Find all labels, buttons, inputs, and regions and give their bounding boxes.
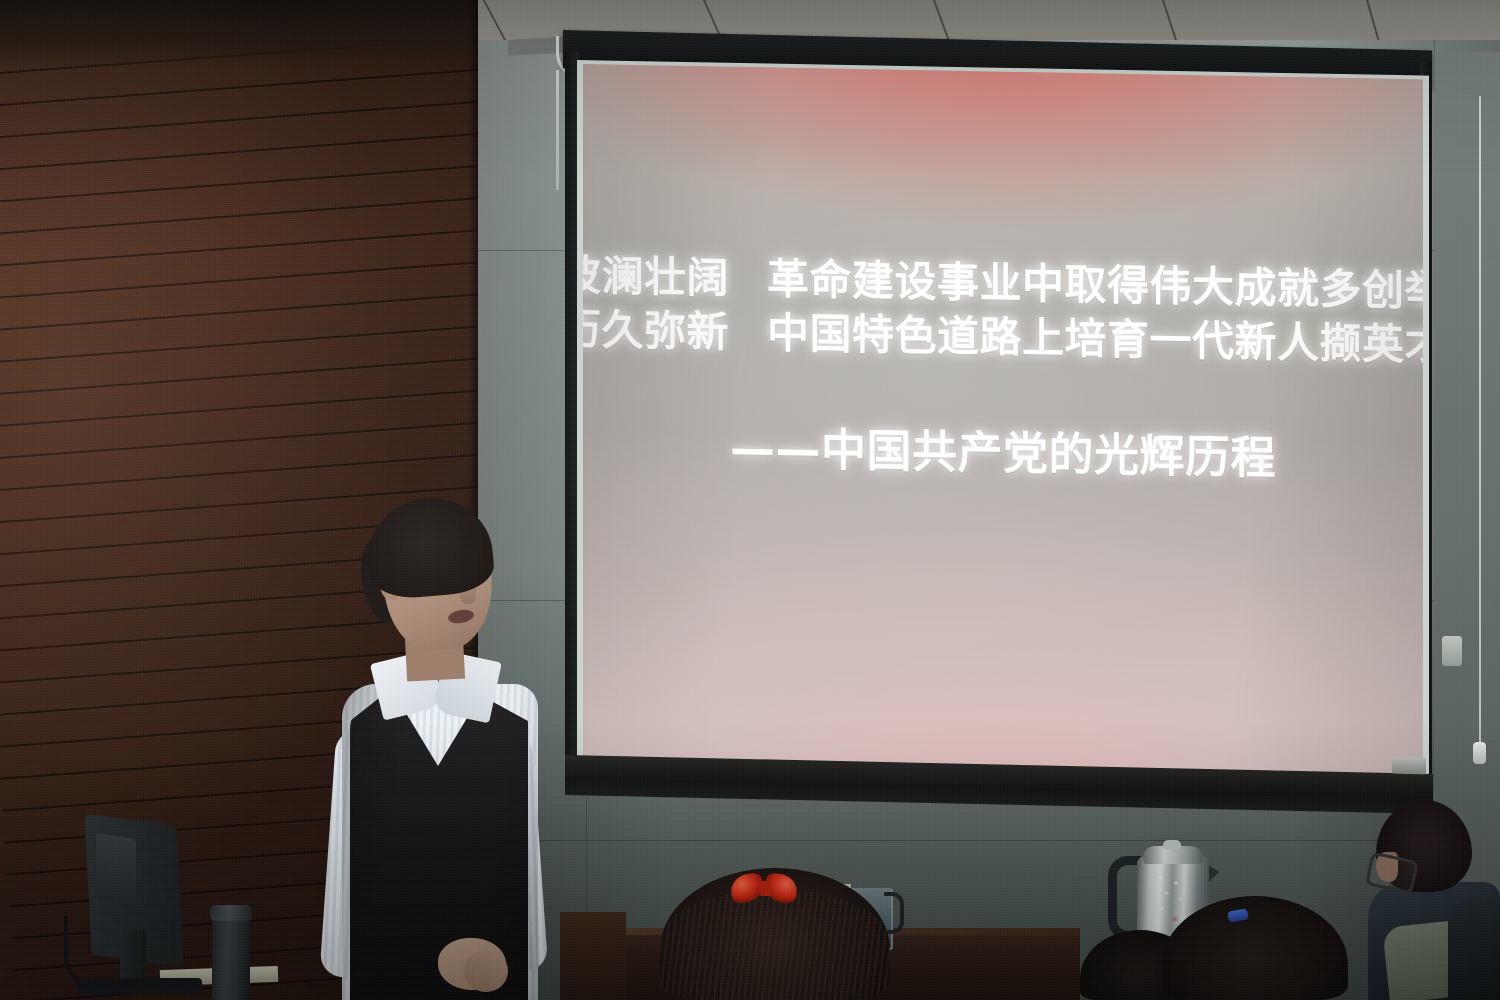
red-bow-hair-clip-icon: [731, 873, 799, 903]
slide-line-1-left: 波澜壮阔: [583, 251, 729, 303]
photo-scene: 波澜壮阔革命建设事业中取得伟大成就多创举 历久弥新中国特色道路上培育一代新人撷英…: [0, 0, 1500, 1000]
glass-handle: [884, 892, 904, 934]
presenter-hand-second: [464, 950, 508, 992]
audience-member-far-right: [1448, 898, 1500, 1000]
presenter-hair: [364, 493, 496, 601]
pull-cord-knob[interactable]: [1473, 742, 1486, 764]
thermos-flask: [212, 912, 250, 1000]
projector-screen[interactable]: 波澜壮阔革命建设事业中取得伟大成就多创举 历久弥新中国特色道路上培育一代新人撷英…: [565, 30, 1430, 790]
wall-speaker: [1442, 636, 1462, 666]
audience-hair-texture: [660, 890, 890, 1000]
slide-subtitle: ——中国共产党的光辉历程: [730, 411, 1276, 486]
slide-line-2-right: 中国特色道路上培育一代新人撷英才: [767, 308, 1423, 369]
screen-pull-tab[interactable]: [1392, 757, 1426, 775]
screen-cable-drop: [556, 70, 559, 190]
monitor-rear-panel: [96, 833, 136, 905]
presenter: [288, 498, 588, 1000]
pull-cord[interactable]: [1479, 96, 1481, 744]
desk-left-panel: [560, 912, 626, 1000]
bow-center-knot: [759, 881, 771, 896]
monitor-base: [78, 978, 202, 994]
slide-text-block: 波澜壮阔革命建设事业中取得伟大成就多创举 历久弥新中国特色道路上培育一代新人撷英…: [583, 64, 1423, 777]
kettle-lid-knob: [1163, 840, 1181, 849]
slide-line-2-left: 历久弥新: [583, 304, 729, 356]
projected-slide: 波澜壮阔革命建设事业中取得伟大成就多创举 历久弥新中国特色道路上培育一代新人撷英…: [583, 64, 1423, 777]
slide-line-1-right: 革命建设事业中取得伟大成就多创举: [767, 254, 1423, 315]
thermos-cap: [210, 905, 252, 921]
